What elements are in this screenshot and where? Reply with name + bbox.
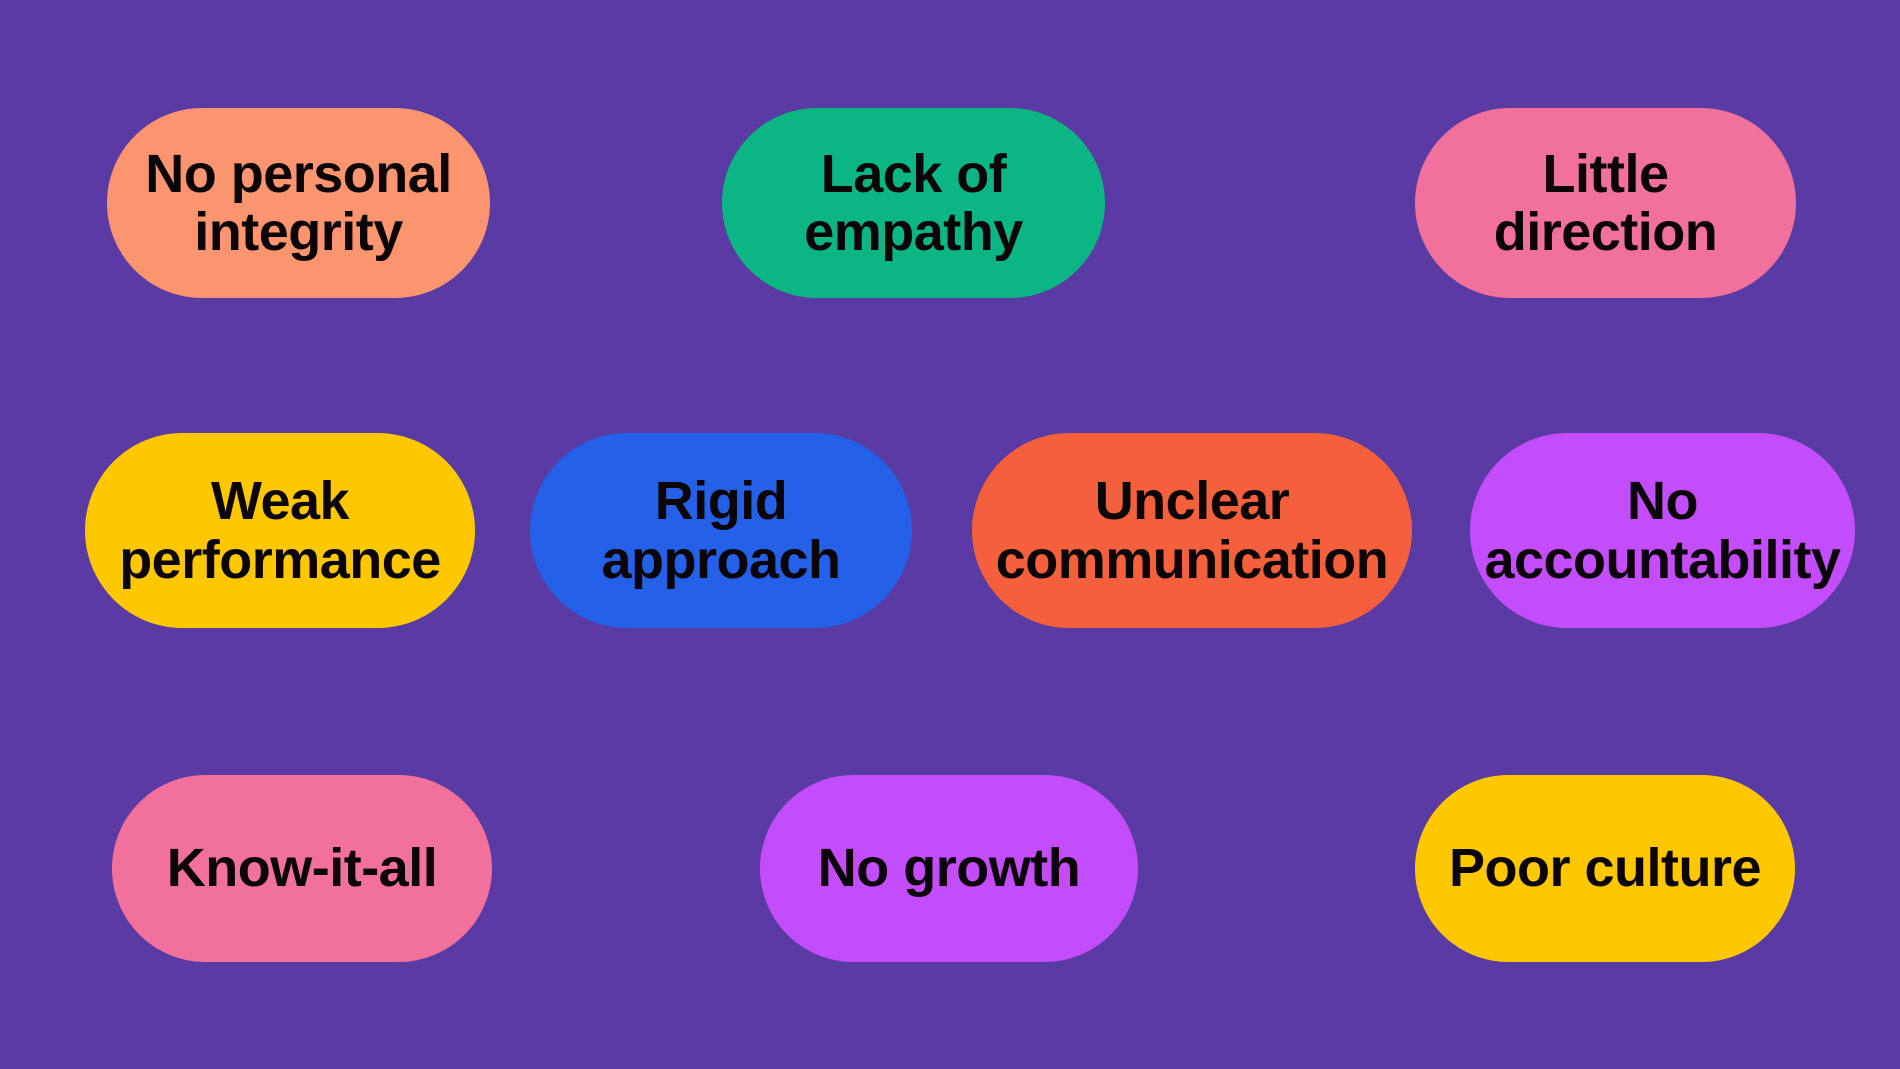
pill-no-growth[interactable]: No growth [760, 775, 1138, 962]
pill-label-no-growth: No growth [818, 839, 1080, 897]
pill-know-it-all[interactable]: Know-it-all [112, 775, 492, 962]
pill-poor-culture[interactable]: Poor culture [1415, 775, 1795, 962]
pill-label-unclear-communication: Unclear communication [996, 472, 1389, 589]
pill-board: No personal integrity Lack of empathy Li… [0, 0, 1900, 1069]
pill-lack-of-empathy[interactable]: Lack of empathy [722, 108, 1105, 298]
pill-label-lack-of-empathy: Lack of empathy [804, 145, 1023, 262]
pill-little-direction[interactable]: Little direction [1415, 108, 1796, 298]
pill-label-know-it-all: Know-it-all [167, 839, 437, 897]
pill-label-poor-culture: Poor culture [1449, 839, 1761, 897]
pill-unclear-communication[interactable]: Unclear communication [972, 433, 1412, 628]
pill-label-no-accountability: No accountability [1484, 472, 1840, 589]
pill-no-personal-integrity[interactable]: No personal integrity [107, 108, 490, 298]
pill-label-no-personal-integrity: No personal integrity [145, 145, 452, 262]
pill-no-accountability[interactable]: No accountability [1470, 433, 1855, 628]
pill-weak-performance[interactable]: Weak performance [85, 433, 475, 628]
pill-rigid-approach[interactable]: Rigid approach [530, 433, 912, 628]
pill-label-little-direction: Little direction [1494, 145, 1718, 262]
pill-label-rigid-approach: Rigid approach [601, 472, 840, 589]
pill-label-weak-performance: Weak performance [119, 472, 441, 589]
